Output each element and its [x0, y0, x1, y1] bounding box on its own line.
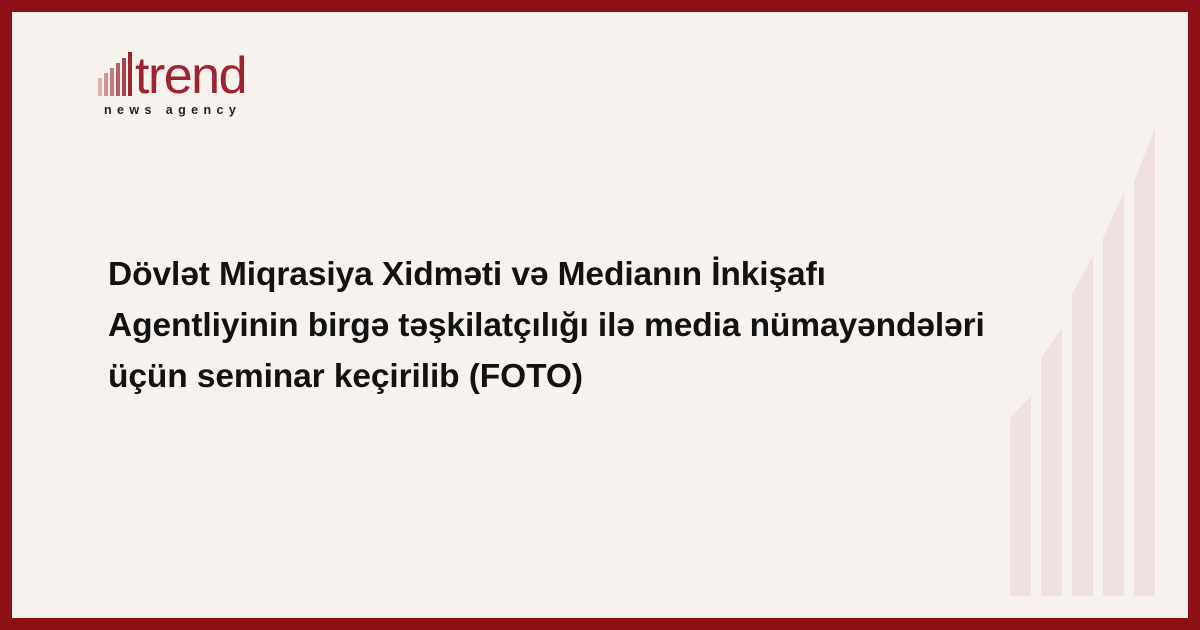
- headline-line: Agentliyinin birgə təşkilatçılığı ilə me…: [108, 301, 1108, 352]
- logo-bar-2: [104, 73, 108, 96]
- logo-bar-6: [128, 52, 132, 96]
- logo-bar-1: [98, 78, 102, 96]
- trend-news-agency-logo[interactable]: trend news agency: [98, 44, 298, 117]
- logo-bar-3: [110, 68, 114, 96]
- logo-bar-4: [116, 63, 120, 96]
- article-headline: Dövlət Miqrasiya Xidməti və Medianın İnk…: [108, 250, 1108, 403]
- ascending-bars-icon: [98, 50, 134, 96]
- share-card: trend news agency Dövlət Miqrasiya Xidmə…: [0, 0, 1200, 630]
- logo-tagline: news agency: [104, 103, 298, 117]
- headline-line: Dövlət Miqrasiya Xidməti və Medianın İnk…: [108, 250, 1108, 301]
- decor-bar-5: [1134, 128, 1155, 596]
- logo-mark: trend: [98, 44, 298, 96]
- decor-bar-1: [1010, 396, 1031, 596]
- logo-wordmark: trend: [135, 54, 246, 99]
- headline-line: üçün seminar keçirilib (FOTO): [108, 352, 1108, 403]
- logo-bar-5: [122, 58, 126, 96]
- card-canvas: trend news agency Dövlət Miqrasiya Xidmə…: [12, 12, 1188, 618]
